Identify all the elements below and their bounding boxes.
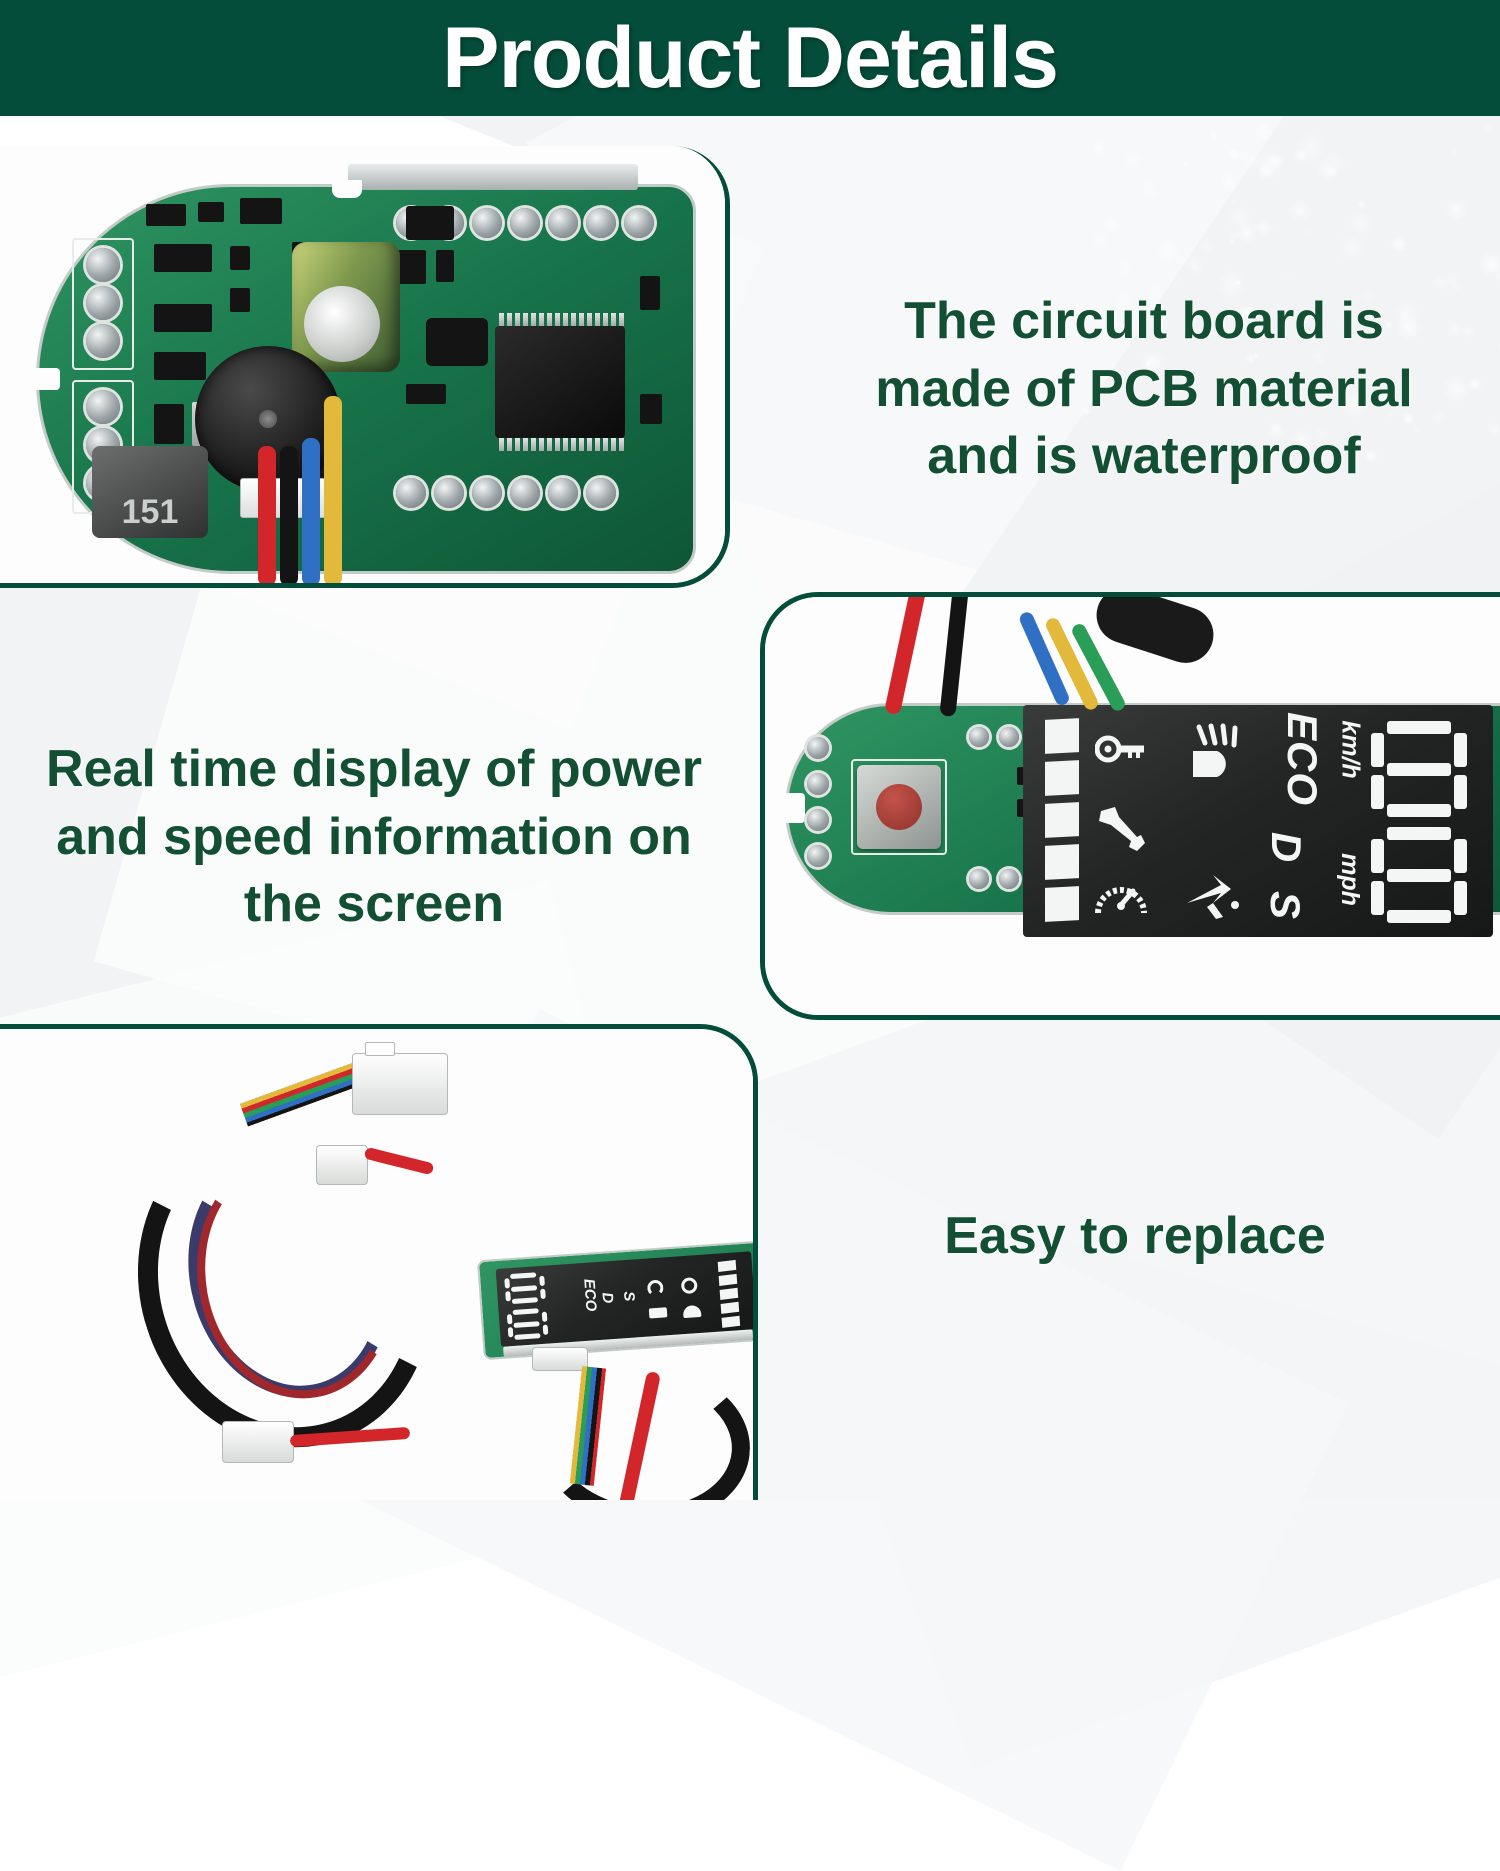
- solder-pad: [510, 208, 540, 238]
- smd-component: [154, 304, 212, 332]
- jst-connector-bottom[interactable]: [222, 1421, 294, 1463]
- wire-blue: [302, 438, 320, 586]
- background-bokeh-dot: [1254, 123, 1272, 141]
- wire-red: [258, 446, 276, 586]
- pcb-edge-notch: [779, 793, 805, 823]
- background-bokeh-dot: [1356, 199, 1367, 210]
- solder-pad: [586, 208, 616, 238]
- mode-label-d: D: [598, 1292, 616, 1304]
- unit-label-kmh: km/h: [1336, 720, 1365, 778]
- background-bokeh-dot: [1478, 250, 1500, 279]
- solder-pad: [807, 773, 829, 795]
- background-bokeh-dot: [1482, 122, 1495, 135]
- solder-pad: [969, 869, 989, 889]
- battery-bar: [718, 1260, 737, 1272]
- smd-component: [640, 276, 660, 310]
- smd-component: [154, 404, 184, 444]
- battery-bar: [1045, 802, 1079, 838]
- mode-label-eco: ECO: [1278, 712, 1326, 806]
- page-title: Product Details: [442, 15, 1058, 101]
- wire-yellow: [324, 396, 342, 586]
- caption-real-time-display: Real time display of power and speed inf…: [30, 736, 718, 939]
- solder-pad: [999, 727, 1019, 747]
- headlight-icon: [1183, 723, 1245, 781]
- mode-label-s: S: [620, 1291, 638, 1302]
- solder-pad: [472, 208, 502, 238]
- solder-pad: [86, 286, 120, 320]
- circuit-board-closeup-photo: 151: [0, 146, 725, 583]
- solder-pad: [472, 478, 502, 508]
- solder-pad: [434, 478, 464, 508]
- cable-sleeve: [1089, 592, 1220, 670]
- unit-label-mph: mph: [1335, 853, 1364, 906]
- background-bokeh-dot: [1302, 227, 1313, 238]
- smd-component: [198, 202, 224, 222]
- solder-pad: [807, 737, 829, 759]
- power-inductor: 151: [92, 446, 208, 538]
- smd-inductor: [426, 318, 488, 366]
- battery-bar: [1045, 844, 1079, 880]
- battery-bar: [720, 1288, 739, 1300]
- jst-connector-large[interactable]: [352, 1053, 448, 1115]
- background-bokeh-dot: [1137, 176, 1164, 203]
- background-bokeh-dot: [1390, 235, 1408, 253]
- jst-connector-module[interactable]: [532, 1347, 588, 1371]
- background-bokeh-dot: [1122, 150, 1144, 172]
- pcb-top-notch: [332, 180, 362, 198]
- smd-component: [406, 384, 446, 404]
- lcd-display-panel: ECO D S km/h mph: [1023, 705, 1493, 937]
- smd-component: [154, 352, 206, 380]
- background-bokeh-dot: [1102, 215, 1121, 234]
- wire-black: [939, 592, 971, 717]
- background-bokeh-dot: [1287, 198, 1312, 223]
- background-bokeh-dot: [1461, 324, 1475, 338]
- solder-pad: [86, 248, 120, 282]
- seven-segment-digit: [1371, 827, 1467, 923]
- smd-component: [230, 246, 250, 270]
- solder-pad: [548, 478, 578, 508]
- solder-pad: [510, 478, 540, 508]
- ic-pins-top: [495, 313, 625, 326]
- seven-segment-digit: [1371, 721, 1467, 817]
- solder-pad: [86, 390, 120, 424]
- microcontroller-ic: [495, 326, 625, 438]
- speedometer-icon: [681, 1277, 698, 1294]
- display-board-photo: ECO D S km/h mph: [765, 597, 1500, 1015]
- smd-component: [154, 244, 212, 272]
- mode-label-s: S: [1261, 891, 1309, 919]
- solder-pad: [86, 324, 120, 358]
- wrench-icon: [1095, 805, 1147, 853]
- smd-component: [230, 288, 250, 312]
- connector-latch: [365, 1042, 395, 1056]
- background-bokeh-dot: [1208, 130, 1219, 141]
- seven-segment-digit: [504, 1272, 546, 1305]
- solder-pad: [807, 845, 829, 867]
- full-assembly-with-cables-photo: ECO D S: [0, 1029, 753, 1500]
- battery-bar: [1045, 886, 1079, 922]
- product-photo-panel-circuit-board: 151: [0, 146, 730, 588]
- smd-component: [640, 394, 662, 424]
- ribbon-wires: [240, 1059, 370, 1126]
- display-module-assembly: ECO D S: [477, 1234, 758, 1360]
- headlight-icon: [683, 1305, 702, 1318]
- background-bokeh-dot: [1318, 162, 1338, 182]
- wire-red: [884, 592, 931, 715]
- product-photo-panel-full-assembly: ECO D S: [0, 1024, 758, 1500]
- solder-pad: [969, 727, 989, 747]
- background-bokeh-dot: [1285, 276, 1291, 282]
- ic-pins-bottom: [495, 438, 625, 451]
- product-photo-panel-display-board: ECO D S km/h mph: [760, 592, 1500, 1020]
- caption-easy-to-replace: Easy to replace: [900, 1203, 1370, 1271]
- smd-component: [436, 250, 454, 282]
- mode-label-eco: ECO: [580, 1278, 599, 1312]
- solder-pad: [999, 869, 1019, 889]
- key-icon: [1095, 731, 1147, 767]
- background-bokeh-dot: [1174, 273, 1184, 283]
- battery-bar: [719, 1274, 738, 1286]
- background-bokeh-dot: [1486, 421, 1500, 439]
- solder-pad: [586, 478, 616, 508]
- page-header: Product Details: [0, 0, 1500, 116]
- bluetooth-person-icon: [1183, 873, 1245, 923]
- solder-pad: [396, 478, 426, 508]
- caption-circuit-board: The circuit board is made of PCB materia…: [838, 288, 1450, 491]
- pcb-edge-notch: [26, 368, 60, 390]
- electrolytic-capacitor: [292, 242, 400, 372]
- solder-pad: [624, 208, 654, 238]
- wire-black: [280, 446, 298, 586]
- background-bokeh-dot: [1348, 211, 1373, 236]
- pcb-metal-shield: [348, 164, 638, 190]
- mode-label-d: D: [1262, 832, 1310, 862]
- background-bokeh-dot: [1443, 270, 1461, 288]
- wrench-icon: [649, 1307, 668, 1318]
- smd-component: [240, 198, 282, 224]
- solder-pad: [807, 809, 829, 831]
- bluetooth-person-icon: [647, 1279, 664, 1296]
- solder-pad: [548, 208, 578, 238]
- battery-bar: [721, 1302, 740, 1314]
- jst-connector-small[interactable]: [316, 1145, 368, 1185]
- smd-component: [146, 204, 186, 226]
- seven-segment-digit: [507, 1308, 549, 1341]
- battery-bar: [1045, 760, 1079, 796]
- battery-bar: [722, 1316, 741, 1328]
- speedometer-icon: [1093, 875, 1149, 921]
- background-bokeh-dot: [1236, 222, 1258, 244]
- battery-bar: [1045, 718, 1079, 754]
- sot23-package: [406, 206, 454, 240]
- silkscreen-box: [851, 759, 947, 855]
